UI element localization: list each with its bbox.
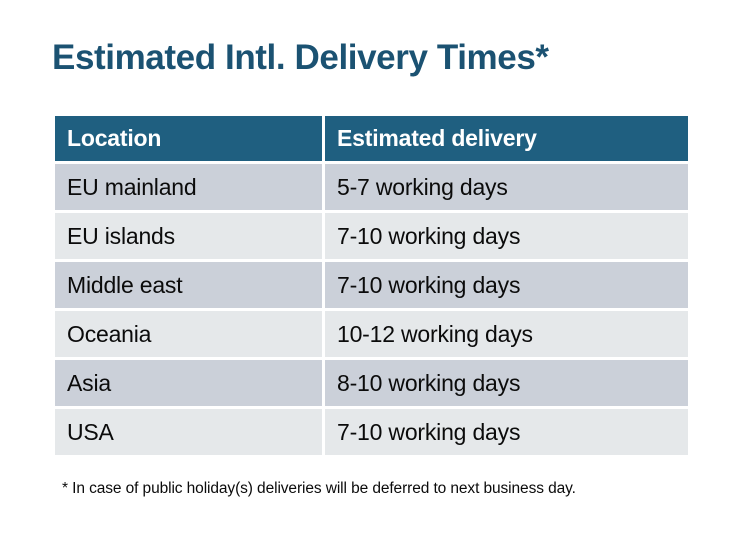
cell-location: EU mainland [55,164,322,210]
cell-location: Asia [55,360,322,406]
table-row: Asia 8-10 working days [55,360,688,406]
cell-estimate: 7-10 working days [325,409,688,455]
cell-location: Middle east [55,262,322,308]
table-row: USA 7-10 working days [55,409,688,455]
table-row: Oceania 10-12 working days [55,311,688,357]
cell-location: Oceania [55,311,322,357]
column-header-location: Location [55,116,322,161]
cell-estimate: 8-10 working days [325,360,688,406]
cell-location: EU islands [55,213,322,259]
table-row: Middle east 7-10 working days [55,262,688,308]
cell-location: USA [55,409,322,455]
table-header: Location Estimated delivery [55,116,688,161]
cell-estimate: 5-7 working days [325,164,688,210]
table-header-row: Location Estimated delivery [55,116,688,161]
table-row: EU mainland 5-7 working days [55,164,688,210]
cell-estimate: 10-12 working days [325,311,688,357]
delivery-times-page: Estimated Intl. Delivery Times* Location… [0,0,745,536]
footnote: * In case of public holiday(s) deliverie… [62,480,576,498]
cell-estimate: 7-10 working days [325,262,688,308]
cell-estimate: 7-10 working days [325,213,688,259]
delivery-times-table: Location Estimated delivery EU mainland … [52,113,691,458]
column-header-estimated-delivery: Estimated delivery [325,116,688,161]
page-title: Estimated Intl. Delivery Times* [52,36,549,80]
table-body: EU mainland 5-7 working days EU islands … [55,164,688,455]
table-row: EU islands 7-10 working days [55,213,688,259]
